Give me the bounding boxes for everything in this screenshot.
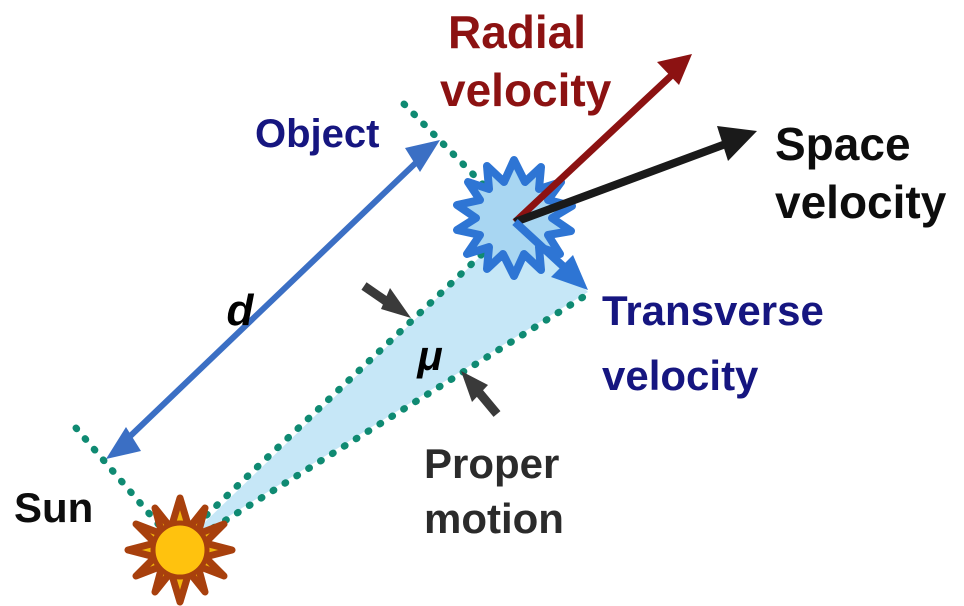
- space-velocity-arrow: [515, 126, 757, 222]
- diagram-canvas: Radial velocity Space velocity Transvers…: [0, 0, 964, 606]
- object-label: Object: [255, 112, 379, 156]
- distance-symbol-label: d: [227, 286, 255, 335]
- transverse-velocity-label-line1: Transverse: [602, 287, 824, 334]
- proper-motion-symbol-label: μ: [416, 332, 442, 379]
- proper-motion-label-line2: motion: [424, 495, 564, 542]
- velocity-diagram-svg: Radial velocity Space velocity Transvers…: [0, 0, 964, 606]
- proper-motion-pointer-lower-icon: [461, 371, 497, 414]
- radial-velocity-label-line2: velocity: [440, 64, 612, 116]
- sun-label: Sun: [14, 484, 93, 531]
- radial-velocity-label-line1: Radial: [448, 6, 586, 58]
- proper-motion-pointer-upper-icon: [364, 286, 411, 318]
- space-velocity-label-line2: velocity: [775, 176, 947, 228]
- transverse-velocity-label-line2: velocity: [602, 352, 759, 399]
- proper-motion-label-line1: Proper: [424, 440, 559, 487]
- space-velocity-label-line1: Space: [775, 118, 911, 170]
